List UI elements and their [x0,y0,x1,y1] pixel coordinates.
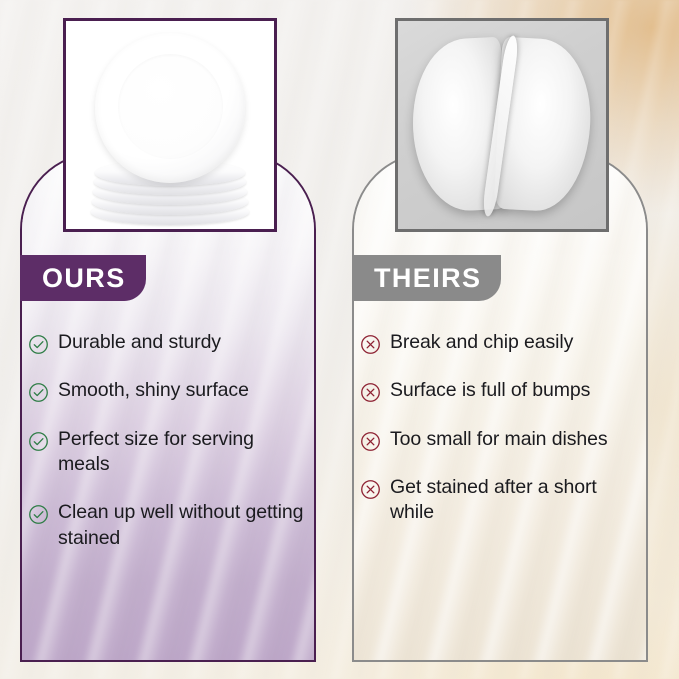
list-item: Get stained after a short while [360,475,642,526]
theirs-product-photo [395,18,609,232]
broken-plate-photo [398,21,606,229]
plate-face-top [95,33,245,183]
cross-circle-icon [360,431,381,452]
ours-feature-list: Durable and sturdy Smooth, shiny surface… [28,330,310,574]
check-circle-icon [28,504,49,525]
list-item: Surface is full of bumps [360,378,642,403]
comparison-infographic: OURS Durable and sturdy Smooth, shiny su… [0,0,679,679]
list-item-label: Surface is full of bumps [390,378,590,403]
ours-banner: OURS [20,255,146,301]
list-item: Durable and sturdy [28,330,310,355]
cross-circle-icon [360,334,381,355]
ours-banner-label: OURS [42,265,126,292]
check-circle-icon [28,334,49,355]
list-item-label: Smooth, shiny surface [58,378,249,403]
cross-circle-icon [360,382,381,403]
stacked-white-plates-photo [66,21,274,229]
theirs-banner: THEIRS [352,255,501,301]
list-item: Break and chip easily [360,330,642,355]
list-item-label: Break and chip easily [390,330,573,355]
list-item-label: Get stained after a short while [390,475,642,526]
check-circle-icon [28,382,49,403]
list-item: Too small for main dishes [360,427,642,452]
theirs-banner-label: THEIRS [374,265,481,292]
cross-circle-icon [360,479,381,500]
theirs-feature-list: Break and chip easily Surface is full of… [360,330,642,549]
ours-product-photo [63,18,277,232]
list-item-label: Too small for main dishes [390,427,608,452]
list-item: Perfect size for serving meals [28,427,310,478]
list-item-label: Durable and sturdy [58,330,221,355]
plate-stack [66,21,274,229]
list-item: Smooth, shiny surface [28,378,310,403]
list-item-label: Clean up well without getting stained [58,500,310,551]
check-circle-icon [28,431,49,452]
list-item-label: Perfect size for serving meals [58,427,310,478]
list-item: Clean up well without getting stained [28,500,310,551]
